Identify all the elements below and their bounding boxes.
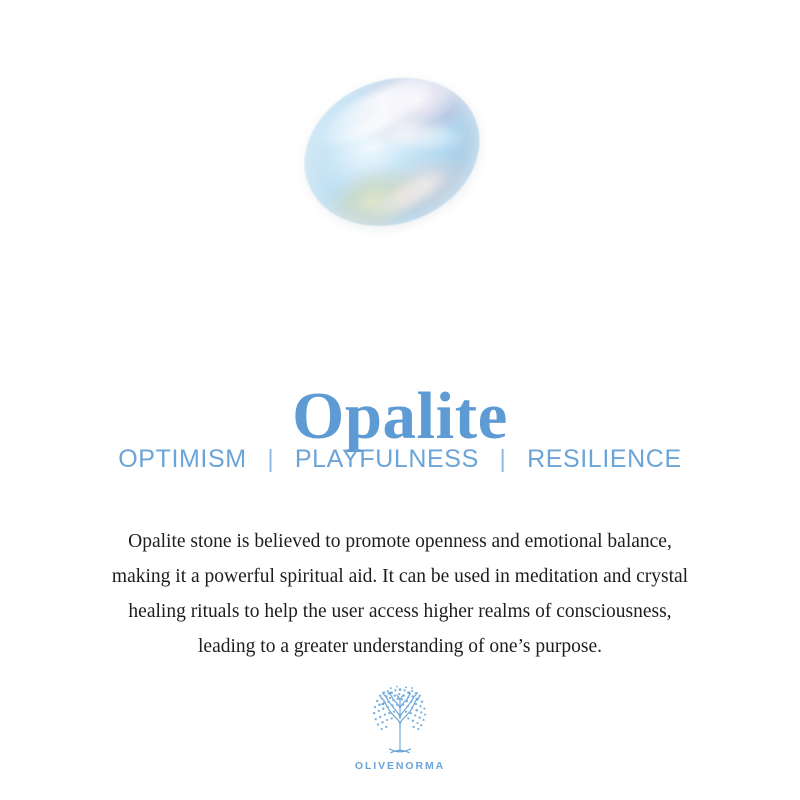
brand-wordmark: OLIVENORMA (355, 760, 445, 772)
description-line: healing rituals to help the user access … (0, 594, 800, 629)
product-info-card: Opalite OPTIMISM | PLAYFULNESS | RESILIE… (0, 0, 800, 800)
keyword-row: OPTIMISM | PLAYFULNESS | RESILIENCE (0, 445, 800, 474)
page-title: Opalite (0, 381, 800, 451)
keyword-separator: | (486, 445, 519, 474)
stone-rim (282, 53, 502, 252)
keyword-playfulness: PLAYFULNESS (295, 445, 479, 474)
keyword-separator: | (254, 445, 287, 474)
opalite-stone-image (282, 53, 502, 252)
brand-logo: OLIVENORMA (0, 682, 800, 772)
description-line: making it a powerful spiritual aid. It c… (0, 559, 800, 594)
description-line: Opalite stone is believed to promote ope… (0, 524, 800, 559)
keyword-optimism: OPTIMISM (118, 445, 246, 474)
description-line: leading to a greater understanding of on… (0, 629, 800, 664)
keyword-resilience: RESILIENCE (527, 445, 682, 474)
tree-of-life-icon (362, 682, 438, 758)
product-image-area (0, 0, 800, 300)
description-paragraph: Opalite stone is believed to promote ope… (0, 524, 800, 664)
